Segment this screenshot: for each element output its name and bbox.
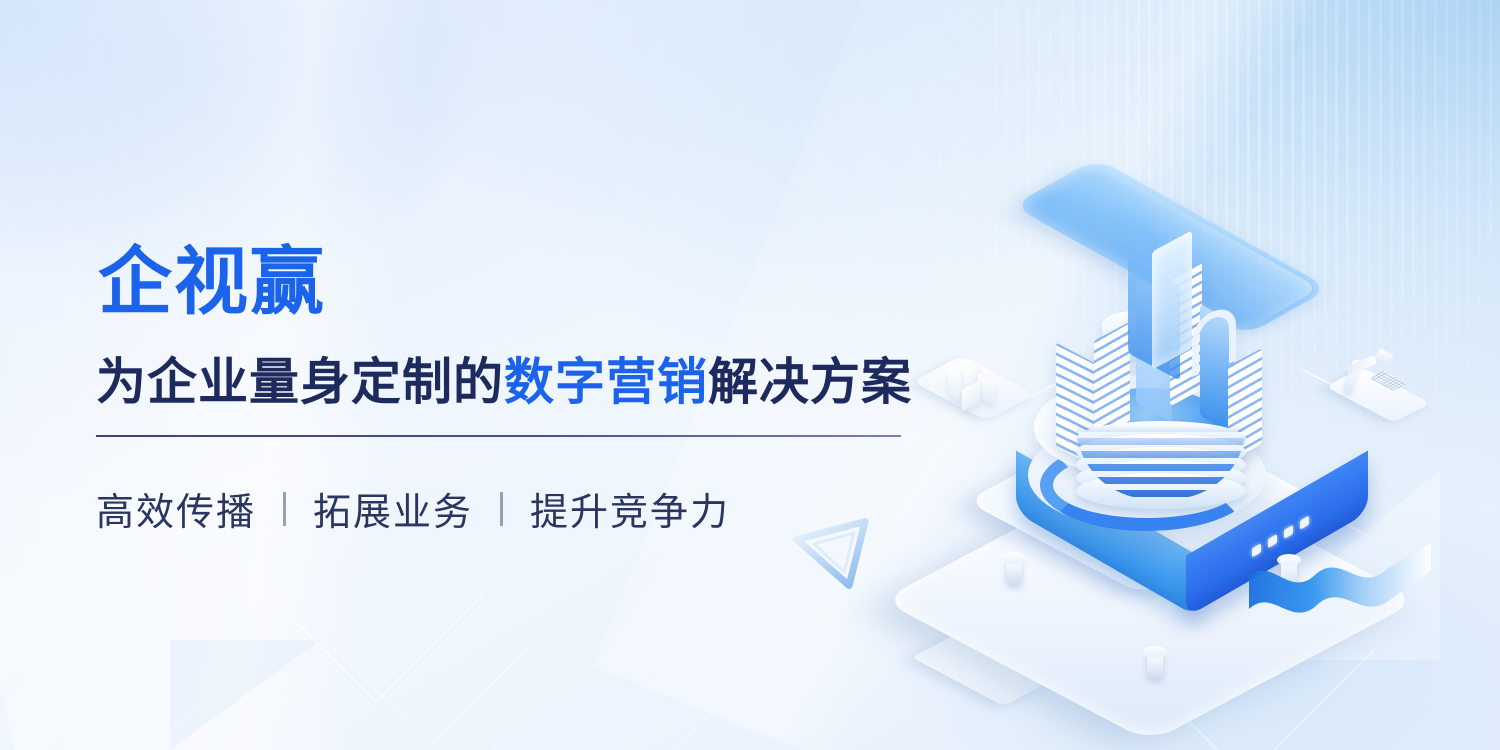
hero-copy-block: 企视赢 为企业量身定制的数字营销解决方案 高效传播 拓展业务 提升竞争力 (96, 245, 926, 536)
bolt-front (1147, 652, 1163, 678)
bolt-left (1006, 558, 1022, 584)
soft-triangle-left (170, 640, 320, 750)
chevron-decoration-2 (331, 546, 532, 747)
hero-banner: 企视赢 为企业量身定制的数字营销解决方案 高效传播 拓展业务 提升竞争力 (0, 0, 1500, 750)
tagline-item-2: 拓展业务 (313, 481, 473, 536)
hero-illustration (900, 225, 1460, 665)
headline-accent: 数字营销 (504, 354, 708, 410)
headline-suffix: 解决方案 (708, 354, 912, 410)
robotic-arm-pad (1324, 343, 1434, 429)
robotic-arm-head (1374, 348, 1394, 367)
chevron-decoration-4 (0, 574, 208, 750)
tagline-item-1: 高效传播 (96, 481, 256, 536)
tagline-separator-icon-1 (283, 492, 286, 526)
tagline-separator-icon-2 (500, 492, 503, 526)
tagline-item-3: 提升竞争力 (530, 481, 730, 536)
horizontal-divider (96, 435, 901, 437)
headline-prefix: 为企业量身定制的 (96, 354, 504, 410)
satellite-buildings-pad (922, 353, 1026, 423)
wavy-ribbon (1245, 525, 1435, 621)
brand-title: 企视赢 (98, 245, 926, 319)
chevron-decoration-3 (422, 512, 750, 750)
glass-tower (1152, 230, 1192, 369)
headline: 为企业量身定制的数字营销解决方案 (96, 355, 926, 409)
